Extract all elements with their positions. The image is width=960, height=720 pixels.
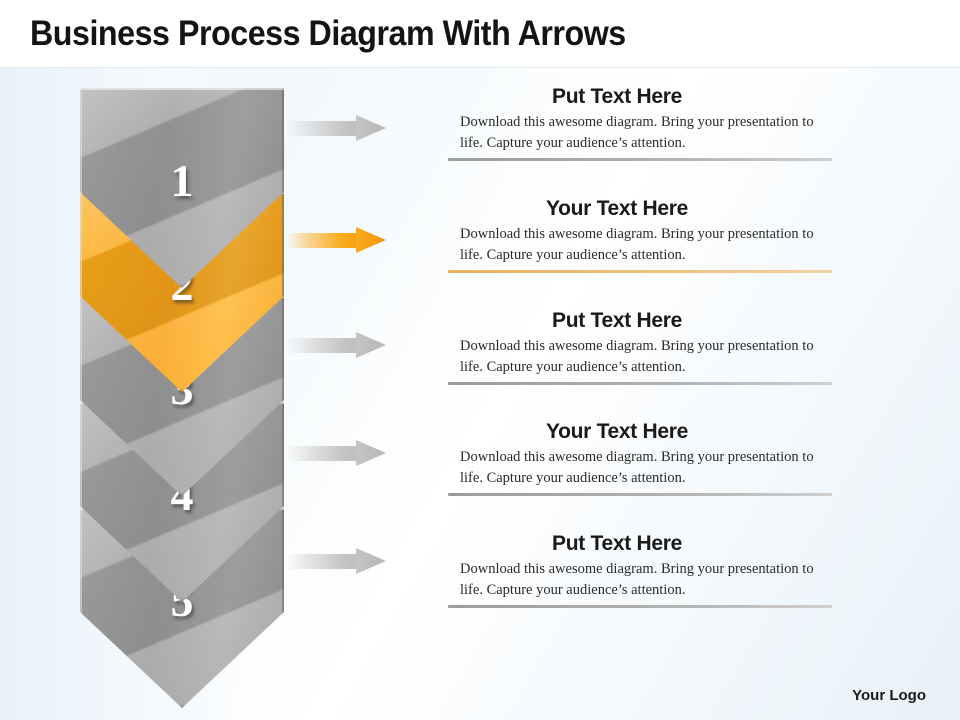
text-block-5[interactable]: Put Text Here Download this awesome diag… [448, 532, 832, 608]
slide-canvas: Business Process Diagram With Arrows 1 2… [0, 0, 960, 720]
arrow-shaft [286, 233, 360, 248]
arrow-shaft [286, 446, 360, 461]
text-block-heading: Put Text Here [448, 532, 832, 556]
connector-arrow-3 [286, 332, 386, 358]
arrow-shaft [286, 338, 360, 353]
connector-arrow-5 [286, 548, 386, 574]
connector-arrow-2 [286, 227, 386, 253]
arrow-head-icon [356, 440, 386, 466]
text-block-body: Download this awesome diagram. Bring you… [448, 224, 832, 265]
text-block-1[interactable]: Put Text Here Download this awesome diag… [448, 85, 832, 161]
text-block-3[interactable]: Put Text Here Download this awesome diag… [448, 309, 832, 385]
text-block-heading: Your Text Here [448, 420, 832, 444]
text-block-body: Download this awesome diagram. Bring you… [448, 112, 832, 153]
text-block-heading: Put Text Here [448, 309, 832, 333]
chevron-stack: 1 2 3 4 5 [80, 88, 284, 713]
arrow-head-icon [356, 115, 386, 141]
arrow-head-icon [356, 227, 386, 253]
text-block-divider [448, 493, 832, 496]
text-block-divider [448, 382, 832, 385]
arrow-shaft [286, 554, 360, 569]
logo-text: Your Logo [852, 687, 926, 704]
connector-arrow-1 [286, 115, 386, 141]
text-block-4[interactable]: Your Text Here Download this awesome dia… [448, 420, 832, 496]
text-block-body: Download this awesome diagram. Bring you… [448, 447, 832, 488]
connector-arrow-4 [286, 440, 386, 466]
text-block-heading: Your Text Here [448, 197, 832, 221]
text-block-heading: Put Text Here [448, 85, 832, 109]
arrow-shaft [286, 121, 360, 136]
text-block-divider [448, 158, 832, 161]
slide-header: Business Process Diagram With Arrows [0, 0, 960, 68]
text-block-divider [448, 270, 832, 273]
text-block-divider [448, 605, 832, 608]
text-block-2[interactable]: Your Text Here Download this awesome dia… [448, 197, 832, 273]
text-block-body: Download this awesome diagram. Bring you… [448, 336, 832, 377]
arrow-head-icon [356, 332, 386, 358]
text-block-body: Download this awesome diagram. Bring you… [448, 559, 832, 600]
page-title: Business Process Diagram With Arrows [30, 14, 626, 54]
arrow-head-icon [356, 548, 386, 574]
